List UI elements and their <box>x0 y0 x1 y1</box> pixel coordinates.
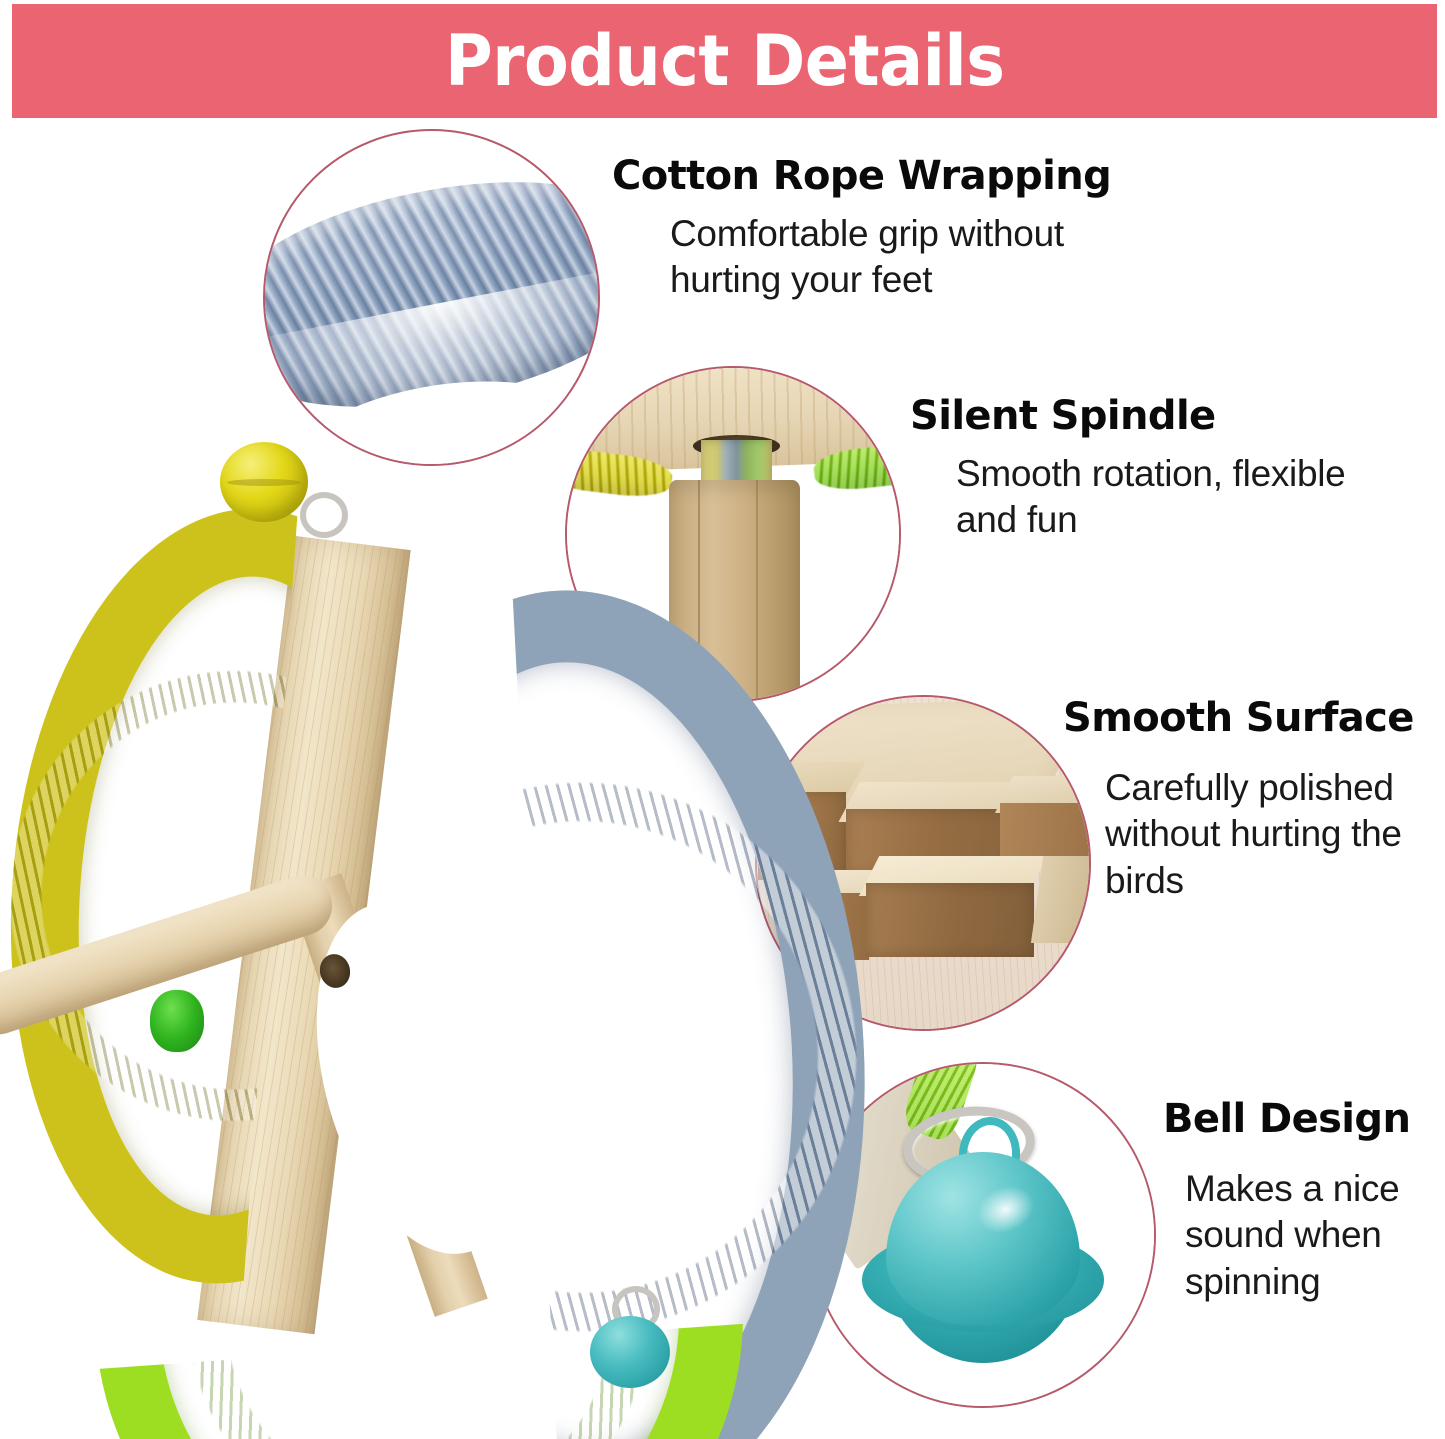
feature-heading-cotton-rope-wrapping: Cotton Rope Wrapping <box>612 155 1142 197</box>
feature-description-bell-design: Makes a nice sound when spinning <box>1163 1166 1438 1305</box>
teal-bell <box>590 1316 670 1388</box>
callout-cotton-rope-wrapping <box>263 129 600 466</box>
yellow-bell-ring-icon <box>300 492 348 538</box>
feature-text-cotton-rope-wrapping: Cotton Rope Wrapping Comfortable grip wi… <box>612 155 1142 304</box>
product-details-infographic: Product Details Cotton Rope Wrapping Com… <box>0 0 1445 1439</box>
header-banner: Product Details <box>12 4 1437 118</box>
feature-description-smooth-surface: Carefully polished without hurting the b… <box>1063 765 1435 904</box>
page-title: Product Details <box>445 26 1005 96</box>
wood-block <box>866 883 1034 957</box>
feature-heading-smooth-surface: Smooth Surface <box>1063 697 1435 739</box>
feature-text-silent-spindle: Silent Spindle Smooth rotation, flexible… <box>910 395 1360 544</box>
feature-heading-bell-design: Bell Design <box>1163 1098 1438 1140</box>
feature-heading-silent-spindle: Silent Spindle <box>910 395 1360 437</box>
feature-description-silent-spindle: Smooth rotation, flexible and fun <box>910 451 1360 544</box>
feature-text-bell-design: Bell Design Makes a nice sound when spin… <box>1163 1098 1438 1305</box>
blue-cotton-rope-closeup-image <box>263 129 600 466</box>
feature-text-smooth-surface: Smooth Surface Carefully polished withou… <box>1063 697 1435 904</box>
feature-description-cotton-rope-wrapping: Comfortable grip without hurting your fe… <box>612 211 1142 304</box>
yellow-bell <box>220 442 308 522</box>
